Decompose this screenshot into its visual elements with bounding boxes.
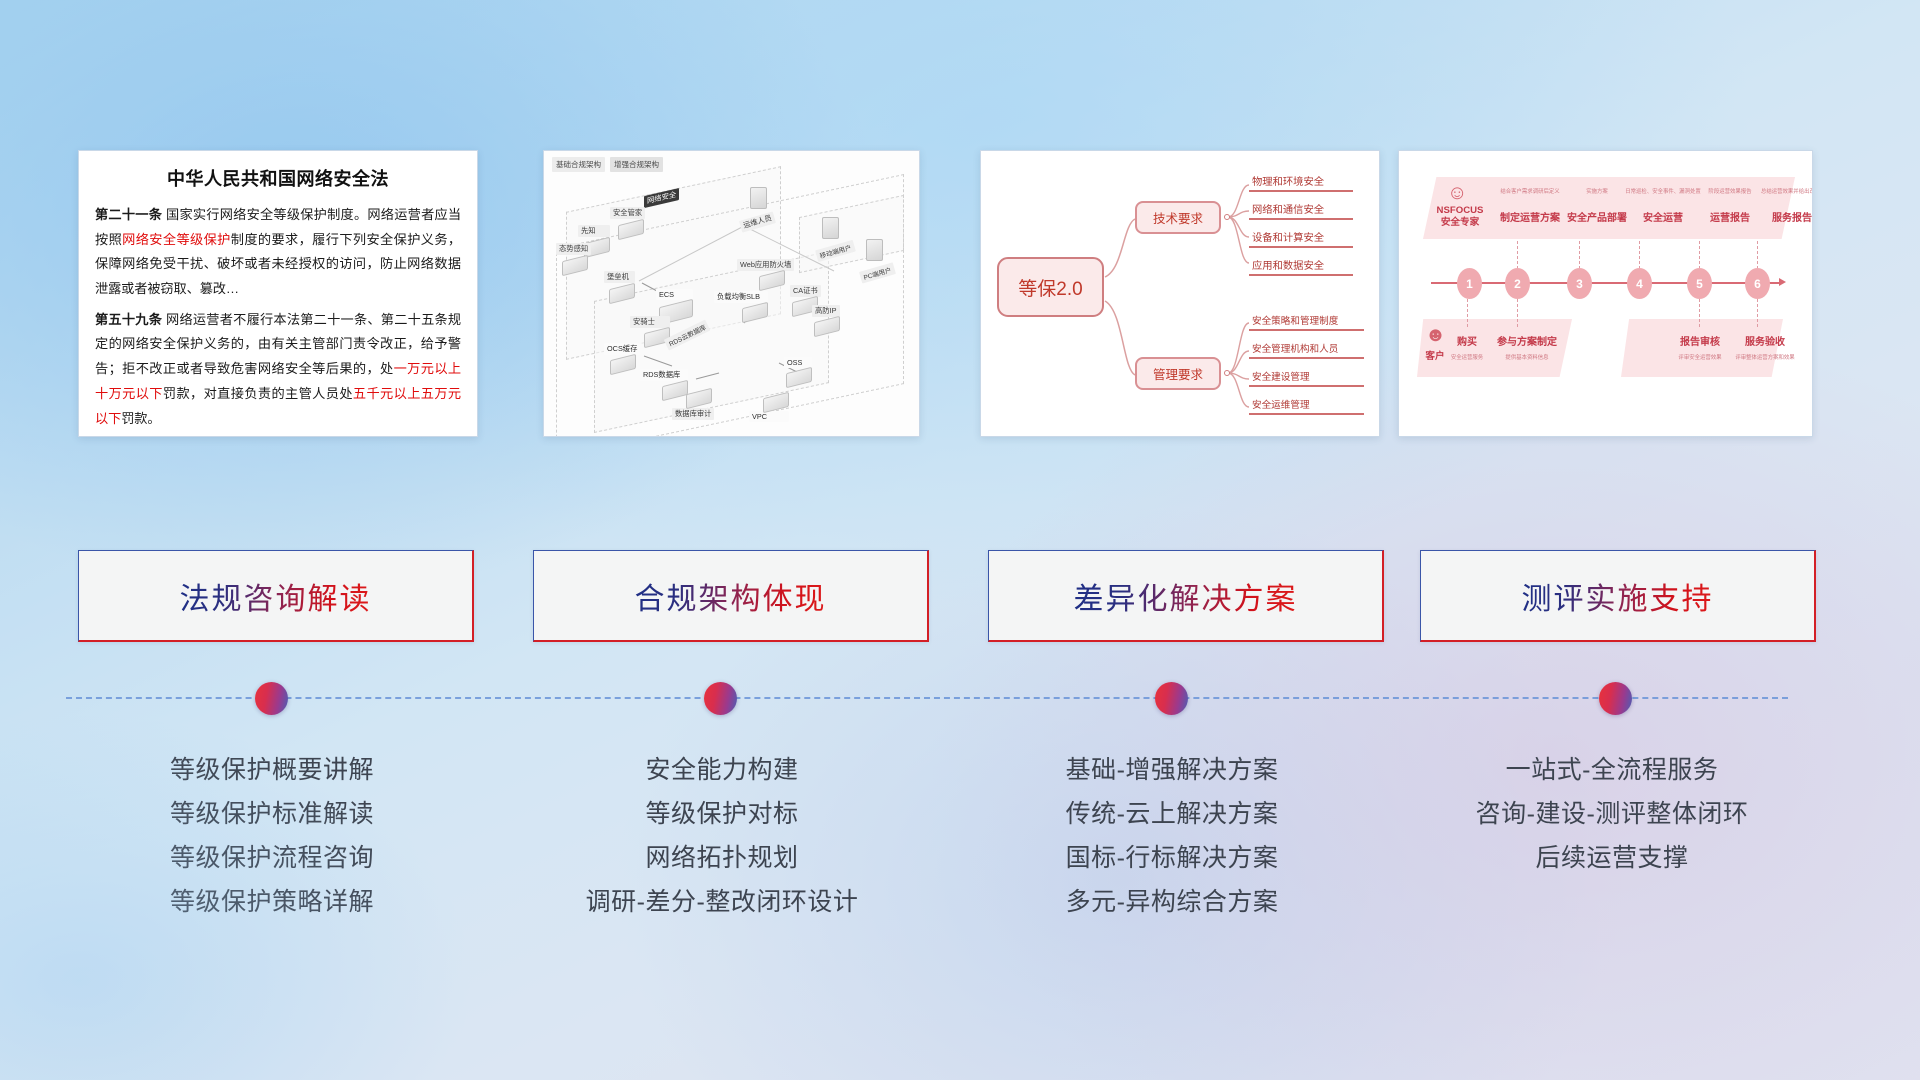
list-item: 国标-行标解决方案 bbox=[1066, 836, 1279, 880]
law-document: 中华人民共和国网络安全法 第二十一条 国家实行网络安全等级保护制度。网络运营者应… bbox=[79, 151, 477, 437]
article-59-text-3: 罚款。 bbox=[121, 411, 160, 426]
mindmap-diagram: 等保2.0 技术要求 物理和环境安全 网络和通信安全 设备和计算安全 应用和数据… bbox=[981, 151, 1379, 436]
process-top-title-4: 安全运营 bbox=[1625, 209, 1701, 224]
section-title-box-1[interactable]: 法规咨询解读 bbox=[78, 550, 474, 642]
section-title-box-3[interactable]: 差异化解决方案 bbox=[988, 550, 1384, 642]
list-item: 后续运营支撑 bbox=[1535, 836, 1688, 880]
list-item: 等级保护标准解读 bbox=[170, 792, 374, 836]
mindmap-leaf-network-comm: 网络和通信安全 bbox=[1249, 201, 1353, 220]
process-step-3[interactable]: 3 bbox=[1567, 268, 1592, 299]
section-title-box-2[interactable]: 合规架构体现 bbox=[533, 550, 929, 642]
mindmap-leaf-policy-system: 安全策略和管理制度 bbox=[1249, 313, 1364, 331]
list-item: 传统-云上解决方案 bbox=[1066, 792, 1279, 836]
section-title-4: 测评实施支持 bbox=[1522, 574, 1714, 618]
arch-node-ocs-cache: OCS缓存 bbox=[604, 343, 640, 372]
section-title-box-4[interactable]: 测评实施支持 bbox=[1420, 550, 1816, 642]
arch-node-mobile-user: 移动端用户 bbox=[816, 217, 855, 259]
section-title-3: 差异化解决方案 bbox=[1074, 574, 1298, 618]
mindmap-branch-technical[interactable]: 技术要求 bbox=[1135, 201, 1221, 234]
arch-node-bastion-host: 堡垒机 bbox=[604, 271, 635, 301]
process-step-1[interactable]: 1 bbox=[1457, 268, 1482, 299]
process-dash-2-bottom bbox=[1517, 299, 1518, 327]
timeline-dashed-line bbox=[66, 697, 1788, 700]
arch-node-oss: OSS bbox=[784, 357, 812, 385]
process-top-sub-6: 总结运营效果并给出改进效果 bbox=[1747, 187, 1813, 195]
article-21-label: 第二十一条 bbox=[95, 207, 162, 222]
provider-role: 安全专家 bbox=[1441, 217, 1479, 228]
mindmap-root-node[interactable]: 等保2.0 bbox=[997, 257, 1104, 317]
slide-canvas: 中华人民共和国网络安全法 第二十一条 国家实行网络安全等级保护制度。网络运营者应… bbox=[0, 0, 1920, 1080]
law-title: 中华人民共和国网络安全法 bbox=[95, 165, 461, 191]
process-band-customer-right bbox=[1621, 319, 1783, 377]
timeline-dot-2[interactable] bbox=[704, 682, 737, 715]
article-59-text-2: 罚款，对直接负责的主管人员处 bbox=[163, 386, 353, 401]
timeline-dot-3[interactable] bbox=[1155, 682, 1188, 715]
card-service-process[interactable]: ☺ NSFOCUS 安全专家 结合客户需求调研后定义 制定运营方案 实施方案 安… bbox=[1398, 150, 1813, 437]
process-step-6[interactable]: 6 bbox=[1745, 268, 1770, 299]
list-item: 咨询-建设-测评整体闭环 bbox=[1476, 792, 1749, 836]
process-top-title-6: 服务报告 bbox=[1755, 209, 1813, 224]
arch-node-network-security: 网络安全 bbox=[644, 187, 679, 205]
section-title-1: 法规咨询解读 bbox=[180, 574, 372, 618]
feature-list-4: 一站式-全流程服务 咨询-建设-测评整体闭环 后续运营支撑 bbox=[1402, 748, 1822, 880]
arch-node-waf: Web应用防火墙 bbox=[737, 259, 794, 288]
process-dash-3-top bbox=[1579, 241, 1580, 269]
process-bottom-title-6: 服务验收 bbox=[1729, 333, 1801, 348]
process-dash-5-bottom bbox=[1699, 299, 1700, 327]
mindmap-leaf-physical-env: 物理和环境安全 bbox=[1249, 173, 1353, 192]
timeline-dot-1[interactable] bbox=[255, 682, 288, 715]
mindmap-leaf-ops-mgmt: 安全运维管理 bbox=[1249, 397, 1364, 415]
process-dash-6-top bbox=[1757, 241, 1758, 269]
feature-list-3: 基础-增强解决方案 传统-云上解决方案 国标-行标解决方案 多元-异构综合方案 bbox=[962, 748, 1382, 924]
process-dash-2-top bbox=[1517, 241, 1518, 269]
list-item: 网络拓扑规划 bbox=[645, 836, 798, 880]
process-dash-5-top bbox=[1699, 241, 1700, 269]
list-item: 一站式-全流程服务 bbox=[1506, 748, 1719, 792]
process-dash-4-top bbox=[1639, 241, 1640, 269]
process-axis-line bbox=[1431, 282, 1781, 284]
law-article-21: 第二十一条 国家实行网络安全等级保护制度。网络运营者应当按照网络安全等级保护制度… bbox=[95, 203, 461, 302]
card-cybersecurity-law[interactable]: 中华人民共和国网络安全法 第二十一条 国家实行网络安全等级保护制度。网络运营者应… bbox=[78, 150, 478, 437]
arch-node-situational-awareness: 态势感知 bbox=[556, 243, 591, 273]
process-top-sub-2: 结合客户需求调研后定义 bbox=[1491, 187, 1569, 195]
process-timeline-diagram: ☺ NSFOCUS 安全专家 结合客户需求调研后定义 制定运营方案 实施方案 安… bbox=[1399, 151, 1812, 436]
card-cloud-architecture[interactable]: 基础合规架构 增强合规架构 网络安 bbox=[543, 150, 920, 437]
feature-lists-row: 等级保护概要讲解 等级保护标准解读 等级保护流程咨询 等级保护策略详解 安全能力… bbox=[0, 748, 1920, 978]
provider-brand-name: NSFOCUS bbox=[1437, 205, 1484, 216]
mindmap-branch-management[interactable]: 管理要求 bbox=[1135, 357, 1221, 390]
provider-brand: NSFOCUS 安全专家 bbox=[1431, 205, 1489, 228]
mindmap-collapse-dot-management[interactable] bbox=[1224, 370, 1230, 376]
list-item: 等级保护概要讲解 bbox=[170, 748, 374, 792]
article-21-highlight: 网络安全等级保护 bbox=[122, 232, 231, 247]
mindmap-leaf-org-personnel: 安全管理机构和人员 bbox=[1249, 341, 1364, 359]
process-bottom-sub-2: 提供基本资料信息 bbox=[1489, 353, 1565, 361]
timeline-dot-4[interactable] bbox=[1599, 682, 1632, 715]
process-axis-arrow-icon bbox=[1779, 278, 1786, 286]
feature-list-1: 等级保护概要讲解 等级保护标准解读 等级保护流程咨询 等级保护策略详解 bbox=[62, 748, 482, 924]
process-bottom-title-2: 参与方案制定 bbox=[1489, 333, 1565, 348]
list-item: 等级保护对标 bbox=[645, 792, 798, 836]
mindmap-leaf-app-data: 应用和数据安全 bbox=[1249, 257, 1353, 276]
arch-node-vpc: VPC bbox=[749, 395, 789, 422]
arch-node-db-audit: 数据库审计 bbox=[672, 391, 714, 420]
article-59-label: 第五十九条 bbox=[95, 312, 162, 327]
section-titles-row: 法规咨询解读 合规架构体现 差异化解决方案 测评实施支持 bbox=[0, 550, 1920, 645]
process-bottom-title-1: 购买 bbox=[1447, 333, 1487, 348]
security-expert-icon: ☺ bbox=[1447, 183, 1467, 203]
list-item: 等级保护策略详解 bbox=[170, 880, 374, 924]
process-bottom-sub-6: 评审整体运营方案和效果 bbox=[1719, 353, 1811, 361]
customer-icon: ☻ bbox=[1425, 325, 1446, 345]
process-bottom-sub-1: 安全运营服务 bbox=[1441, 353, 1493, 361]
process-step-2[interactable]: 2 bbox=[1505, 268, 1530, 299]
list-item: 等级保护流程咨询 bbox=[170, 836, 374, 880]
list-item: 调研-差分-整改闭环设计 bbox=[586, 880, 859, 924]
mindmap-collapse-dot-technical[interactable] bbox=[1224, 214, 1230, 220]
mindmap-leaf-construction-mgmt: 安全建设管理 bbox=[1249, 369, 1364, 387]
feature-list-2: 安全能力构建 等级保护对标 网络拓扑规划 调研-差分-整改闭环设计 bbox=[512, 748, 932, 924]
process-step-4[interactable]: 4 bbox=[1627, 268, 1652, 299]
arch-node-anti-ddos-ip: 高防IP bbox=[812, 305, 840, 334]
card-dengbao-mindmap[interactable]: 等保2.0 技术要求 物理和环境安全 网络和通信安全 设备和计算安全 应用和数据… bbox=[980, 150, 1380, 437]
process-dash-1-bottom bbox=[1467, 299, 1468, 327]
list-item: 多元-异构综合方案 bbox=[1066, 880, 1279, 924]
process-bottom-title-5: 报告审核 bbox=[1661, 333, 1739, 348]
mindmap-leaf-device-compute: 设备和计算安全 bbox=[1249, 229, 1353, 248]
arch-node-security-butler: 安全管家 bbox=[610, 207, 645, 237]
list-item: 基础-增强解决方案 bbox=[1066, 748, 1279, 792]
arch-node-slb: 负载均衡SLB bbox=[714, 291, 768, 320]
process-dash-6-bottom bbox=[1757, 299, 1758, 327]
arch-node-ops-staff: 运维人员 bbox=[740, 187, 775, 229]
process-step-5[interactable]: 5 bbox=[1687, 268, 1712, 299]
architecture-diagram: 基础合规架构 增强合规架构 网络安 bbox=[544, 151, 919, 436]
law-article-59: 第五十九条 网络运营者不履行本法第二十一条、第二十五条规定的网络安全保护义务的，… bbox=[95, 308, 461, 431]
arch-node-pc-user: PC端用户 bbox=[860, 239, 895, 281]
illustration-cards-row: 中华人民共和国网络安全法 第二十一条 国家实行网络安全等级保护制度。网络运营者应… bbox=[0, 150, 1920, 440]
list-item: 安全能力构建 bbox=[645, 748, 798, 792]
section-title-2: 合规架构体现 bbox=[635, 574, 827, 618]
